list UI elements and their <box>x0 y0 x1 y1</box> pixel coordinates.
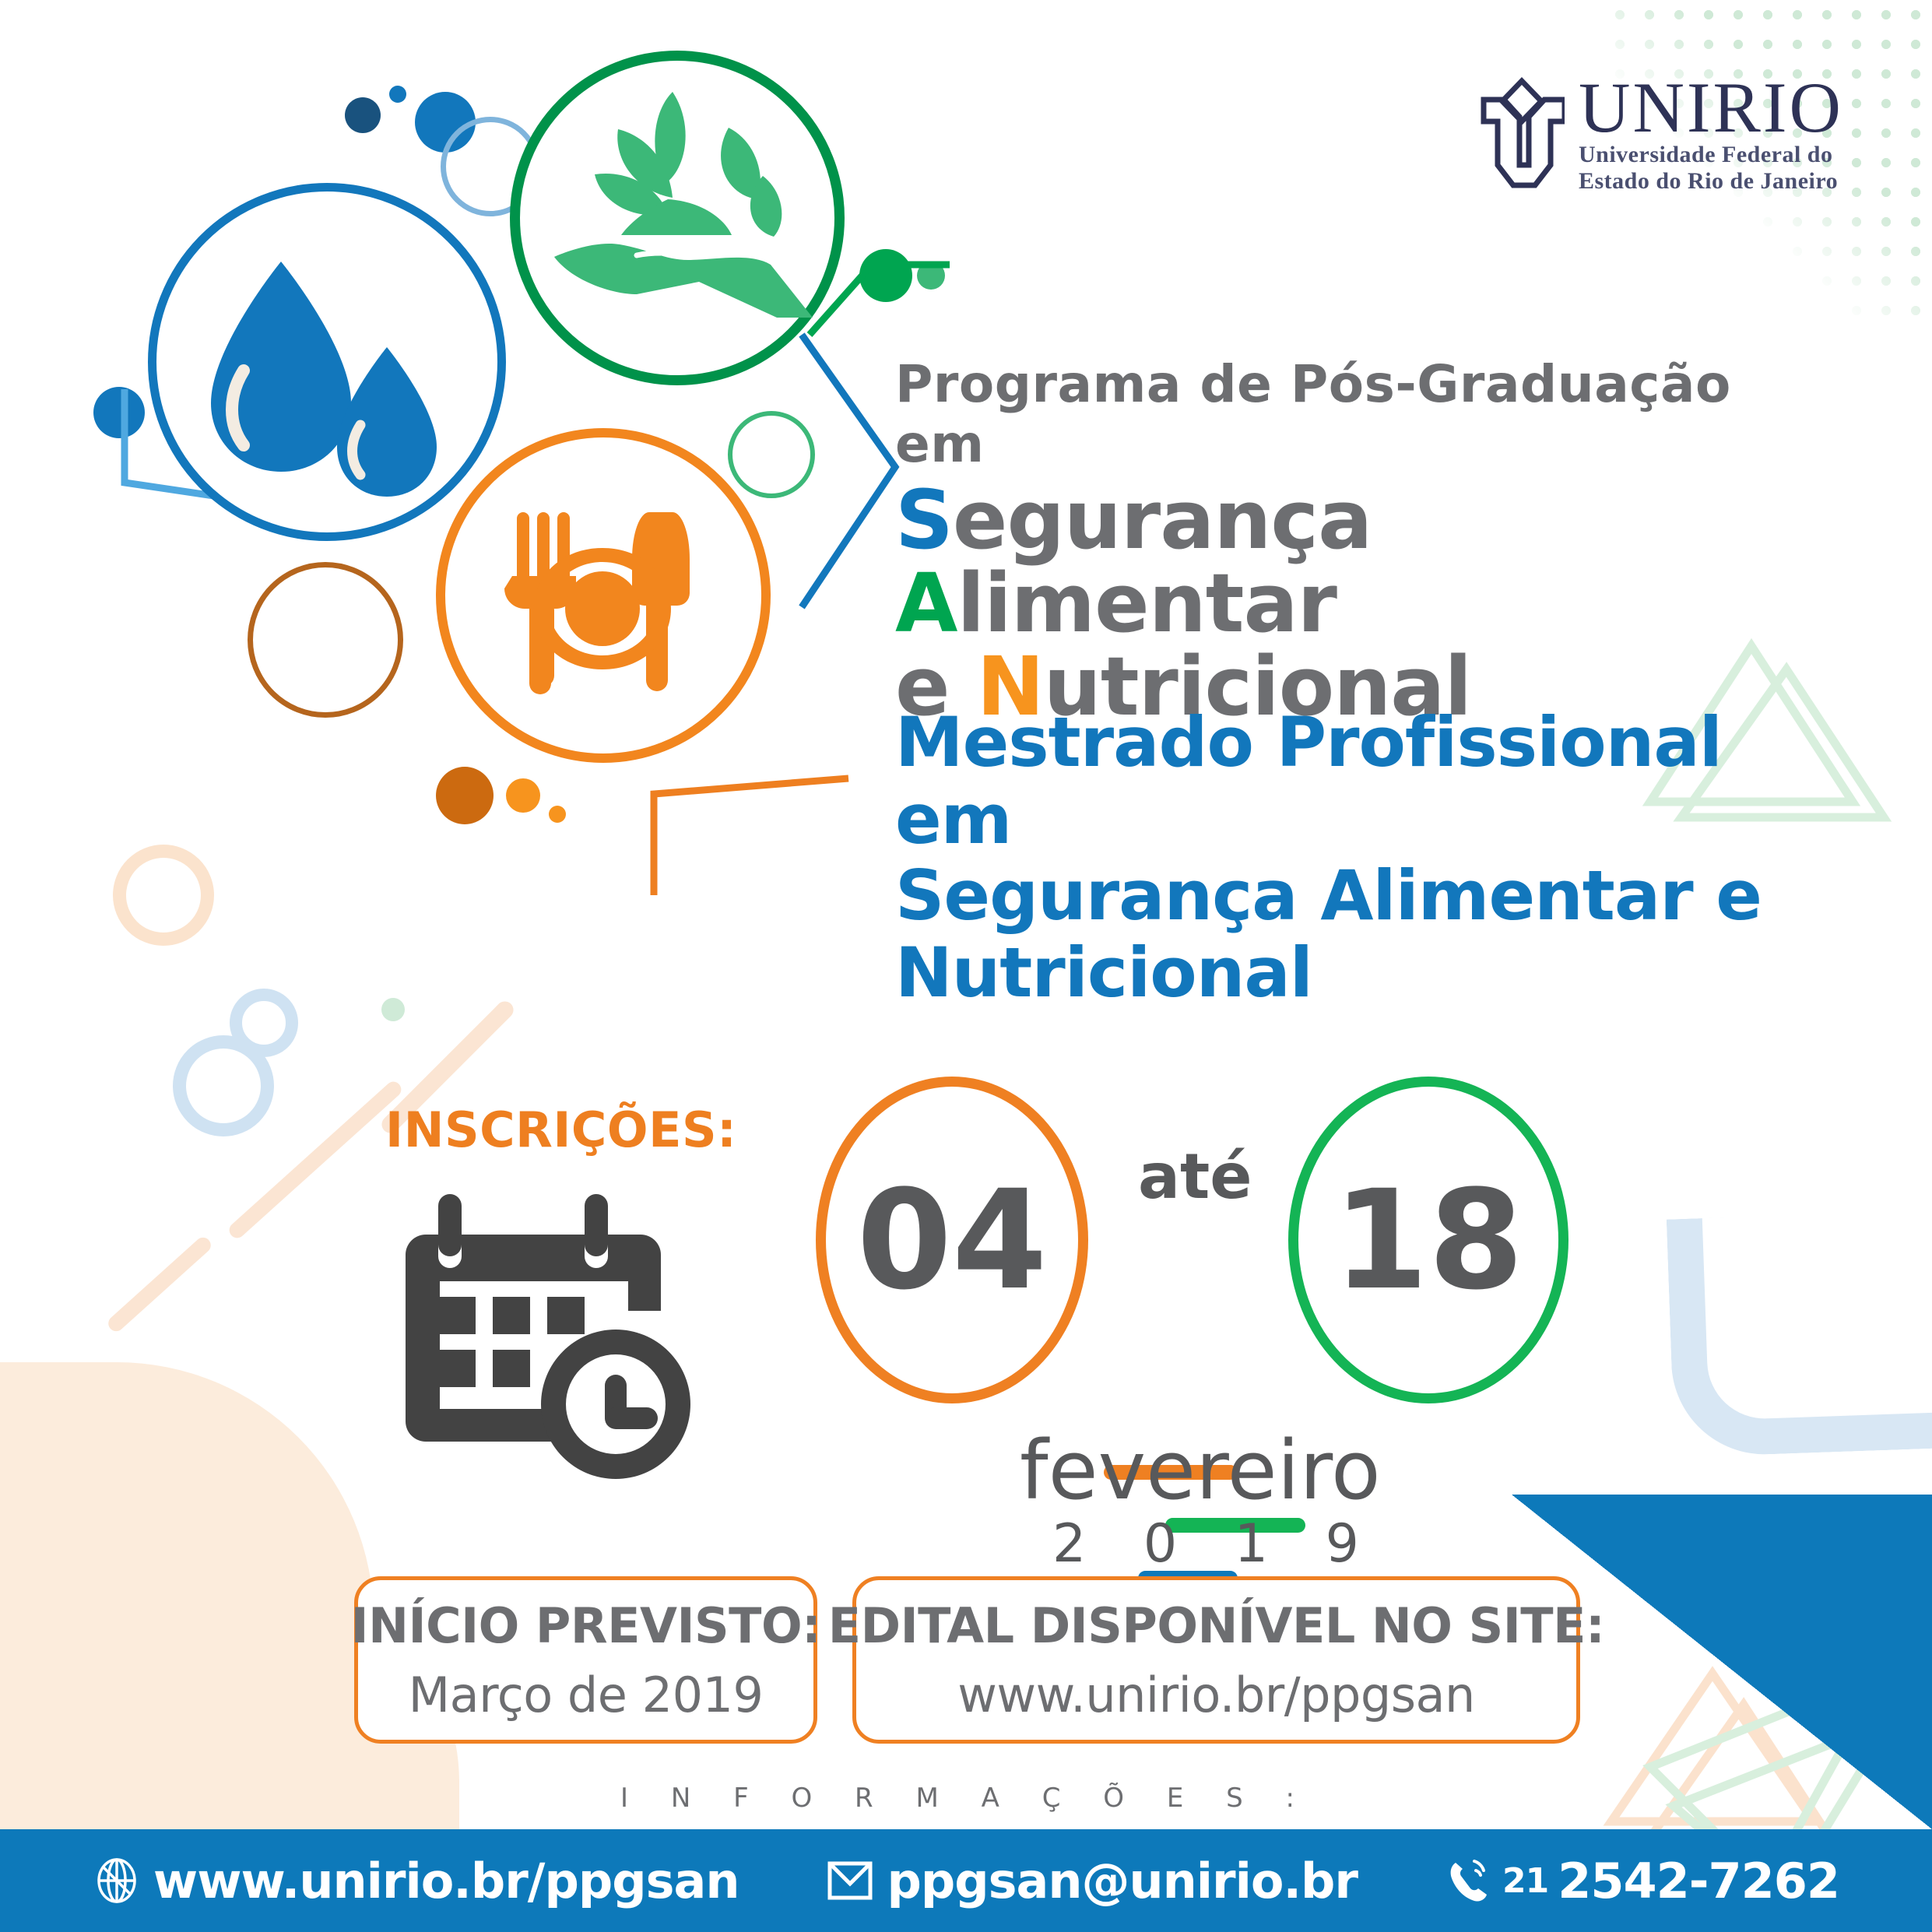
dot-decoration-green-1 <box>381 998 405 1021</box>
unirio-subtitle-line1: Universidade Federal do <box>1579 142 1843 168</box>
unirio-trident-logo-icon <box>1479 76 1565 193</box>
ring-decoration-blue-3 <box>173 1035 274 1136</box>
start-date-value: 04 <box>857 1161 1048 1320</box>
notice-info-box[interactable]: EDITAL DISPONÍVEL NO SITE: www.unirio.br… <box>852 1576 1580 1744</box>
contact-footer-bar: www.unirio.br/ppgsan ppgsan@unirio.br 21… <box>0 1829 1932 1932</box>
notice-info-title: EDITAL DISPONÍVEL NO SITE: <box>828 1597 1605 1654</box>
start-info-title: INÍCIO PREVISTO: <box>351 1597 821 1654</box>
footer-phone-number: 2542-7262 <box>1558 1853 1839 1909</box>
connector-line-orange <box>638 763 864 903</box>
start-info-box[interactable]: INÍCIO PREVISTO: Março de 2019 <box>354 1576 817 1744</box>
title-letter-a: A <box>895 556 957 651</box>
footer-email[interactable]: ppgsan@unirio.br <box>826 1853 1357 1909</box>
end-date-circle: 18 <box>1288 1077 1568 1403</box>
end-date-value: 18 <box>1333 1161 1524 1320</box>
ring-decoration-peach-1 <box>113 845 214 946</box>
header-text-block: Programa de Pós-Graduação em Segurança A… <box>895 354 1790 729</box>
unirio-logo: UNIRIO Universidade Federal do Estado do… <box>1479 74 1843 195</box>
year-label: 2 0 1 9 <box>1052 1513 1379 1575</box>
course-subtitle-line3: Nutricional <box>895 935 1814 1012</box>
footer-phone[interactable]: 21 2542-7262 <box>1445 1853 1839 1909</box>
unirio-acronym: UNIRIO <box>1579 74 1843 142</box>
envelope-icon <box>826 1859 874 1902</box>
plant-icon-circle <box>510 51 845 385</box>
phone-icon <box>1445 1856 1490 1905</box>
course-subtitle: Mestrado Profissional em Segurança Alime… <box>895 704 1814 1011</box>
date-connector-label: até <box>1138 1140 1252 1213</box>
footer-website[interactable]: www.unirio.br/ppgsan <box>93 1853 739 1909</box>
footer-phone-area: 21 <box>1502 1861 1548 1901</box>
line-decoration-peach-2 <box>105 1235 214 1335</box>
informacoes-label: I N F O R M A Ç Õ E S : <box>0 1783 1932 1814</box>
dot-decoration-orange-blob <box>436 767 494 824</box>
unirio-subtitle-line2: Estado do Rio de Janeiro <box>1579 168 1843 195</box>
wave-decoration <box>1667 1210 1932 1458</box>
dot-decoration-orange-blob-tiny <box>549 806 566 823</box>
dot-decoration-navy <box>345 97 381 133</box>
registration-label: INSCRIÇÕES: <box>385 1101 736 1158</box>
title-letter-s: S <box>895 472 953 567</box>
globe-icon <box>93 1856 141 1905</box>
title-text-1: egurança <box>953 472 1372 567</box>
pre-title: Programa de Pós-Graduação em <box>895 354 1790 474</box>
month-label: fevereiro <box>1020 1423 1381 1518</box>
cream-corner-decoration <box>0 1362 374 1829</box>
course-subtitle-line1: Mestrado Profissional em <box>895 704 1814 858</box>
program-title: Segurança Alimentar e Nutricional <box>895 479 1790 729</box>
title-text-2: limentar <box>957 556 1337 651</box>
ring-decoration-brown <box>248 562 403 718</box>
notice-info-url: www.unirio.br/ppgsan <box>957 1667 1475 1723</box>
program-title-line1: Segurança Alimentar <box>895 479 1790 645</box>
start-date-circle: 04 <box>816 1077 1088 1403</box>
dot-decoration-blue-small <box>389 86 406 103</box>
plate-fork-knife-icon <box>445 437 760 752</box>
dot-decoration-orange-blob-small <box>506 778 540 813</box>
poster-root: UNIRIO Universidade Federal do Estado do… <box>0 0 1932 1932</box>
footer-email-text: ppgsan@unirio.br <box>887 1853 1357 1909</box>
course-subtitle-line2: Segurança Alimentar e <box>895 858 1814 935</box>
meal-icon-circle <box>436 428 771 763</box>
calendar-clock-icon <box>385 1183 712 1495</box>
footer-website-text: www.unirio.br/ppgsan <box>153 1853 739 1909</box>
hand-holding-plant-icon <box>520 61 834 375</box>
start-info-value: Março de 2019 <box>409 1667 764 1723</box>
